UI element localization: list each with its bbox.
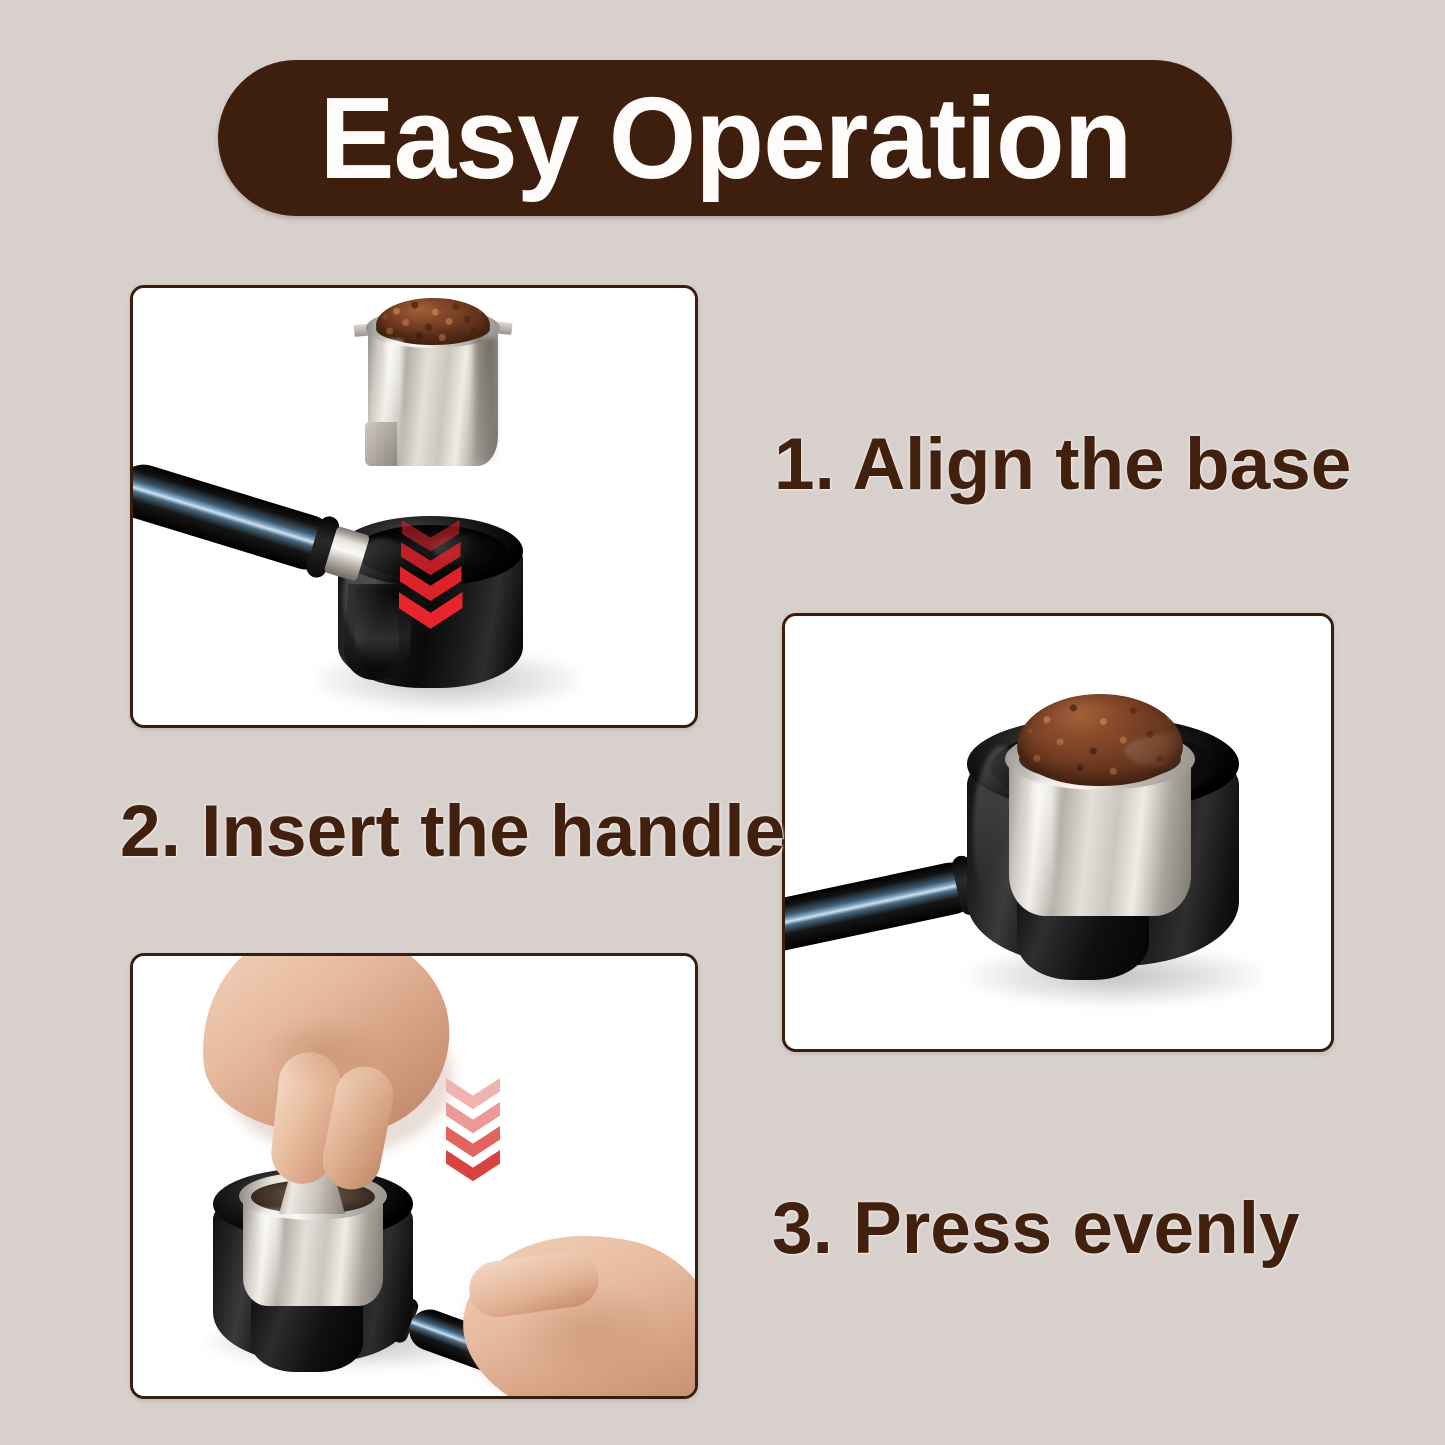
step-1-photo: [133, 288, 695, 725]
step-3-photo: [133, 956, 695, 1396]
step-3-down-arrows: [423, 1078, 523, 1184]
basket-shadow-edge: [474, 338, 496, 460]
infographic-page: Easy Operation: [0, 0, 1445, 1445]
chevron-down-icon: [446, 1078, 500, 1112]
step-1-caption: 1. Align the base: [774, 428, 1351, 501]
title-banner: Easy Operation: [218, 60, 1232, 216]
grounds-texture: [376, 298, 490, 345]
portafilter-handle-group: [133, 441, 408, 641]
coffee-grounds-mound: [376, 298, 490, 345]
step-2-caption: 2. Insert the handle: [120, 795, 785, 868]
portafilter-handle: [785, 858, 982, 956]
step-1-image-frame: [130, 285, 698, 728]
hand-upper-crease: [263, 1016, 383, 1086]
page-title: Easy Operation: [319, 80, 1131, 196]
step-3-caption: 3. Press evenly: [772, 1192, 1300, 1265]
base-rim-gloss: [1125, 734, 1221, 768]
basket-side-highlight: [259, 1210, 281, 1300]
step-3-image-frame: [130, 953, 698, 1399]
basket-side-highlight: [1031, 782, 1055, 910]
step-2-photo: [785, 616, 1331, 1049]
basket-spout-stub: [365, 422, 397, 466]
step-2-image-frame: [782, 613, 1334, 1052]
hand-lower-crease: [513, 1286, 663, 1376]
base-gloss-highlight: [973, 746, 1031, 916]
